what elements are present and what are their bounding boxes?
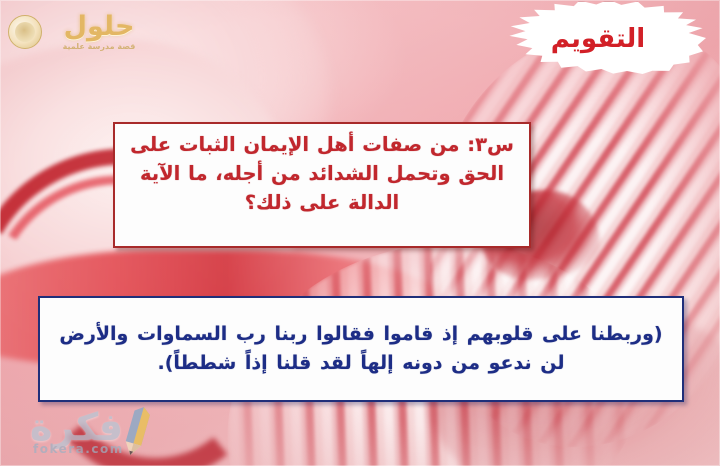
question-box: س٣: من صفات أهل الإيمان الثبات على الحق … xyxy=(113,122,531,248)
section-badge-label: التقويم xyxy=(551,24,645,54)
answer-box: (وربطنا على قلوبهم إذ قاموا فقالوا ربنا … xyxy=(38,296,684,402)
slide-canvas: حلول قصة مدرسة علمية التقويم س٣: من صفات… xyxy=(0,0,720,466)
brand-name: حلول xyxy=(64,13,135,40)
brand-logo: حلول قصة مدرسة علمية xyxy=(6,4,156,60)
question-text: س٣: من صفات أهل الإيمان الثبات على الحق … xyxy=(125,131,519,218)
seal-icon xyxy=(8,15,42,49)
section-badge: التقويم xyxy=(490,2,706,74)
brand-logo-text: حلول قصة مدرسة علمية xyxy=(42,13,156,51)
brand-tagline: قصة مدرسة علمية xyxy=(63,43,136,51)
answer-text: (وربطنا على قلوبهم إذ قاموا فقالوا ربنا … xyxy=(54,320,668,378)
